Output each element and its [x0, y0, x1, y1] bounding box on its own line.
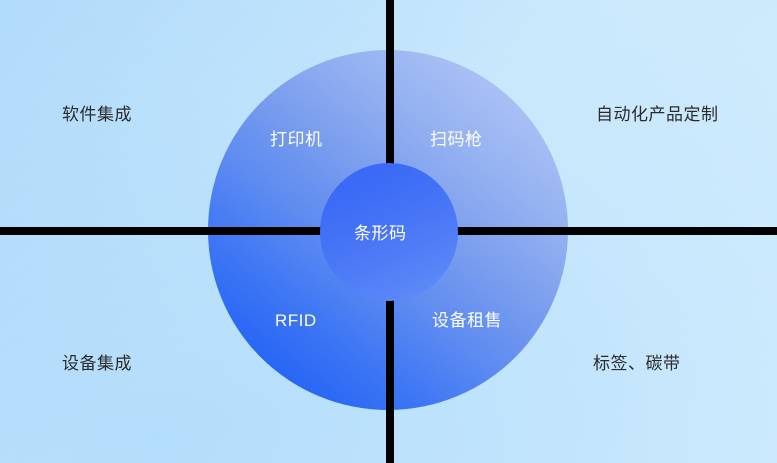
quadrant-label-bottom-left: 设备集成	[62, 355, 132, 372]
ring-label-scanner: 扫码枪	[430, 131, 483, 148]
center-label-barcode: 条形码	[354, 225, 407, 242]
quadrant-label-top-left: 软件集成	[62, 106, 132, 123]
ring-label-printer: 打印机	[270, 131, 323, 148]
quadrant-label-top-right: 自动化产品定制	[596, 106, 719, 123]
ring-label-equipment-rental: 设备租售	[432, 312, 502, 329]
diagram-canvas: 软件集成 自动化产品定制 设备集成 标签、碳带 打印机 扫码枪 RFID 设备租…	[0, 0, 777, 463]
ring-label-rfid: RFID	[275, 312, 317, 329]
quadrant-label-bottom-right: 标签、碳带	[593, 355, 681, 372]
